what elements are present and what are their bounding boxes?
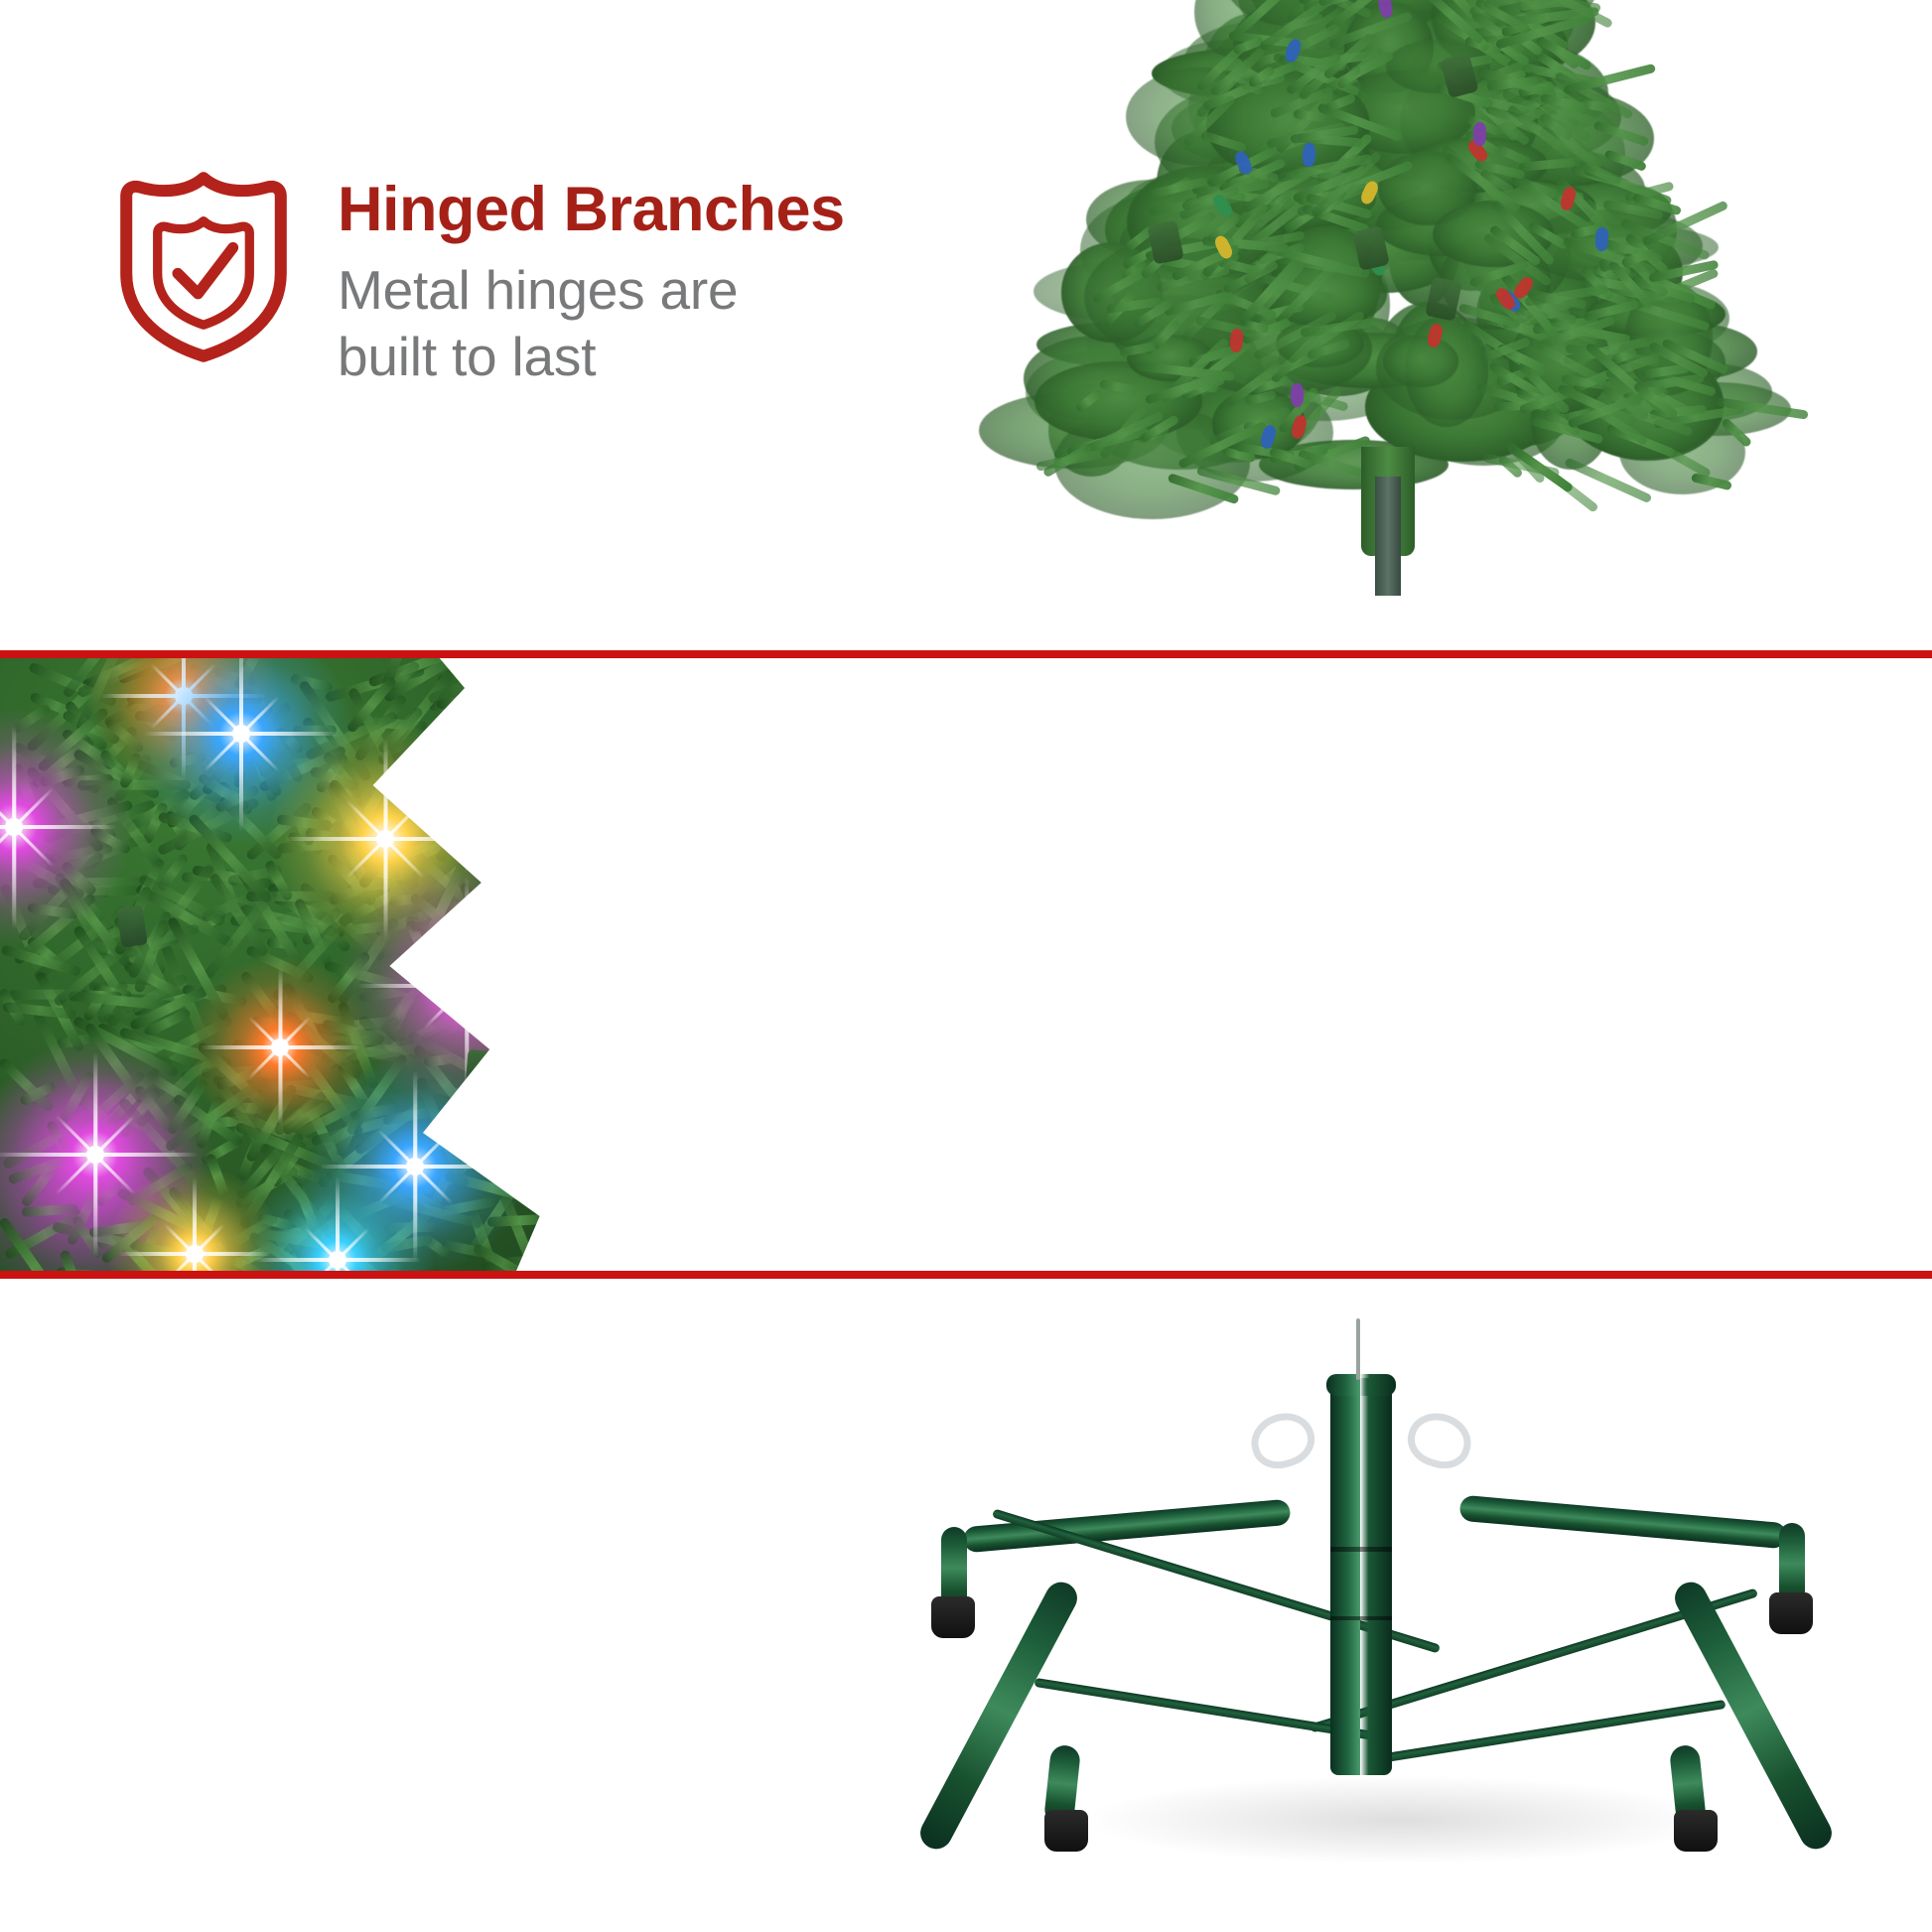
section-divider bbox=[0, 1271, 1932, 1279]
feature-description-line: built to last bbox=[338, 324, 845, 390]
product-feature-infographic: Hinged Branches Metal hinges are built t… bbox=[0, 0, 1932, 1932]
feature-title: Hinged Branches bbox=[338, 177, 845, 243]
feature-description-line: Metal hinges are bbox=[338, 257, 845, 324]
feature-panel-sturdy-base: Sturdy Base A reliable metal stand for y… bbox=[0, 1279, 1932, 1932]
lit-christmas-tree-photo bbox=[0, 658, 675, 1271]
metal-tree-stand-photo bbox=[834, 1279, 1932, 1932]
feature-text-hinged-branches: Hinged Branches Metal hinges are built t… bbox=[338, 177, 845, 390]
shield-check-icon bbox=[111, 167, 296, 365]
section-divider bbox=[0, 650, 1932, 658]
christmas-tree-branches-photo bbox=[844, 0, 1932, 650]
feature-panel-hinged-branches: Hinged Branches Metal hinges are built t… bbox=[0, 0, 1932, 650]
feature-panel-pvc-tips: PVC Tips Flame-retardant and easy to flu… bbox=[0, 658, 1932, 1271]
feature-description: Metal hinges are built to last bbox=[338, 257, 845, 390]
